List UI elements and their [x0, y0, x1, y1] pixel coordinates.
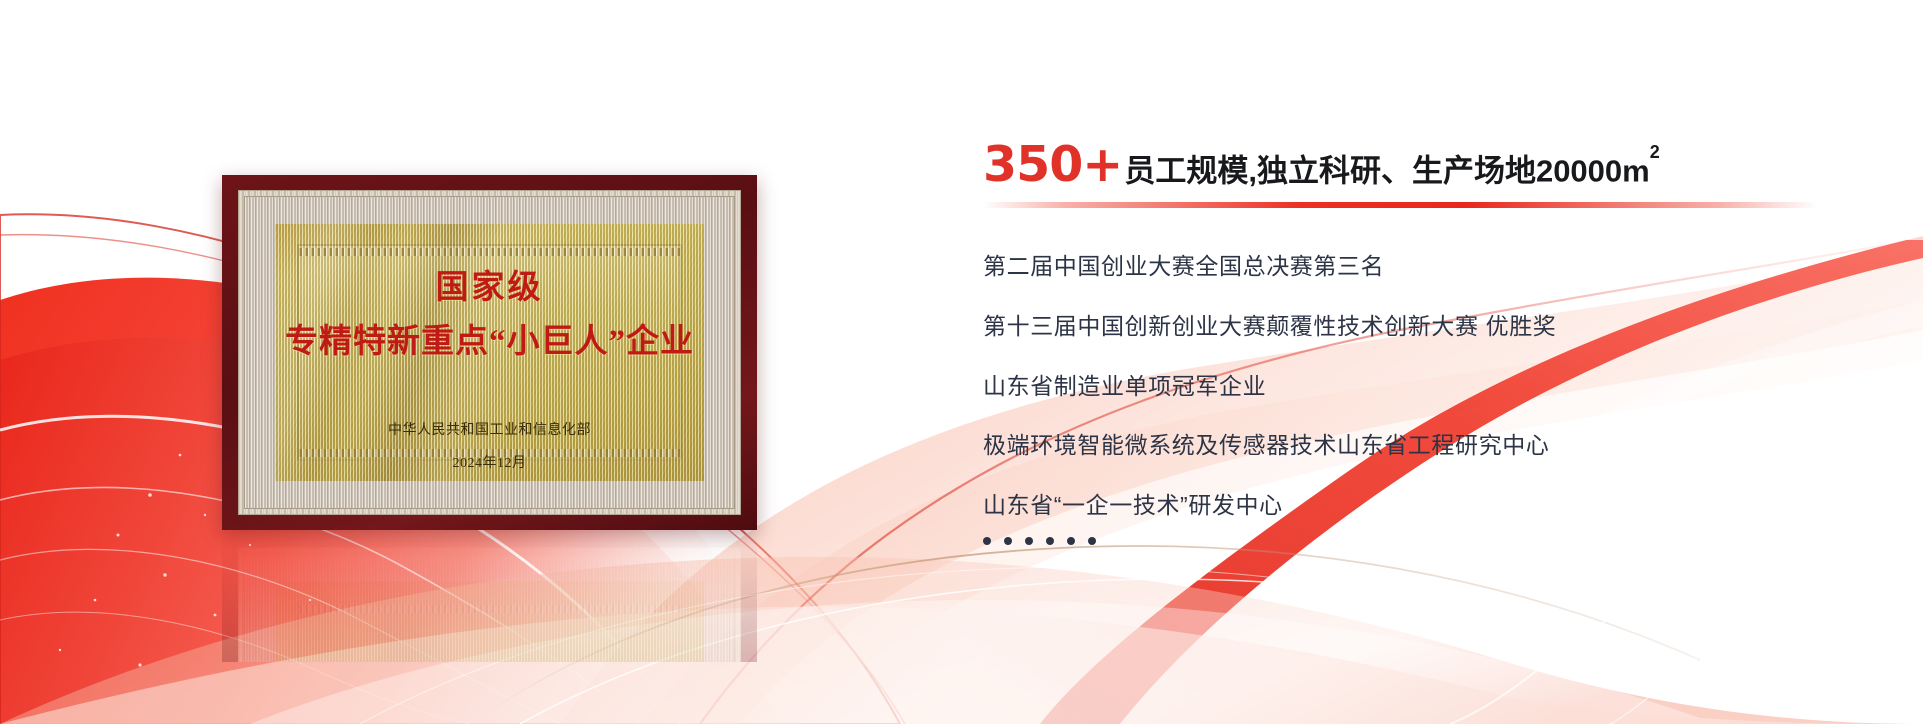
- ellipsis-dot: [1088, 537, 1096, 545]
- plaque-issuer: 中华人民共和国工业和信息化部: [388, 419, 591, 439]
- list-item: 第二届中国创业大赛全国总决赛第三名: [983, 252, 1863, 281]
- plaque-gold-plate: 国家级 专精特新重点“小巨人”企业 中华人民共和国工业和信息化部 2024年12…: [275, 224, 704, 481]
- plaque-frame: 国家级 专精特新重点“小巨人”企业 中华人民共和国工业和信息化部 2024年12…: [222, 175, 757, 530]
- headline-text-main: 员工规模,独立科研、生产场地20000m: [1124, 153, 1649, 188]
- plaque-text-block: 国家级 专精特新重点“小巨人”企业 中华人民共和国工业和信息化部 2024年12…: [275, 224, 704, 481]
- headline-text: 员工规模,独立科研、生产场地20000m2: [1124, 155, 1659, 186]
- ellipsis-dots: [983, 537, 1863, 545]
- list-item: 山东省制造业单项冠军企业: [983, 372, 1863, 401]
- headline-number: 350+: [983, 140, 1122, 189]
- list-item: 山东省“一企一技术”研发中心: [983, 491, 1863, 520]
- list-item: 极端环境智能微系统及传感器技术山东省工程研究中心: [983, 431, 1863, 460]
- ellipsis-dot: [1004, 537, 1012, 545]
- plaque-date: 2024年12月: [453, 452, 527, 472]
- plaque-title-line2: 专精特新重点“小巨人”企业: [285, 324, 694, 360]
- plaque-reflection-inner-border: [297, 601, 682, 662]
- banner-stage: 国家级 专精特新重点“小巨人”企业 中华人民共和国工业和信息化部 2024年12…: [0, 0, 1923, 724]
- plaque-silver-border: 国家级 专精特新重点“小巨人”企业 中华人民共和国工业和信息化部 2024年12…: [238, 190, 741, 515]
- plaque-reflection: [222, 532, 757, 662]
- award-plaque: 国家级 专精特新重点“小巨人”企业 中华人民共和国工业和信息化部 2024年12…: [222, 175, 757, 530]
- list-item: 第十三届中国创新创业大赛颠覆性技术创新大赛 优胜奖: [983, 312, 1863, 341]
- plaque-reflection-frame: [222, 532, 757, 662]
- honor-list: 第二届中国创业大赛全国总决赛第三名 第十三届中国创新创业大赛颠覆性技术创新大赛 …: [983, 252, 1863, 520]
- ellipsis-dot: [1046, 537, 1054, 545]
- headline-divider: [983, 202, 1818, 208]
- headline-superscript: 2: [1650, 142, 1660, 162]
- headline: 350+ 员工规模,独立科研、生产场地20000m2: [983, 140, 1863, 189]
- plaque-reflection-silver: [238, 547, 741, 662]
- ellipsis-dot: [1025, 537, 1033, 545]
- plaque-reflection-gold: [275, 581, 704, 662]
- ellipsis-dot: [1067, 537, 1075, 545]
- ellipsis-dot: [983, 537, 991, 545]
- plaque-title-line1: 国家级: [436, 270, 544, 306]
- content-column: 350+ 员工规模,独立科研、生产场地20000m2 第二届中国创业大赛全国总决…: [983, 140, 1863, 545]
